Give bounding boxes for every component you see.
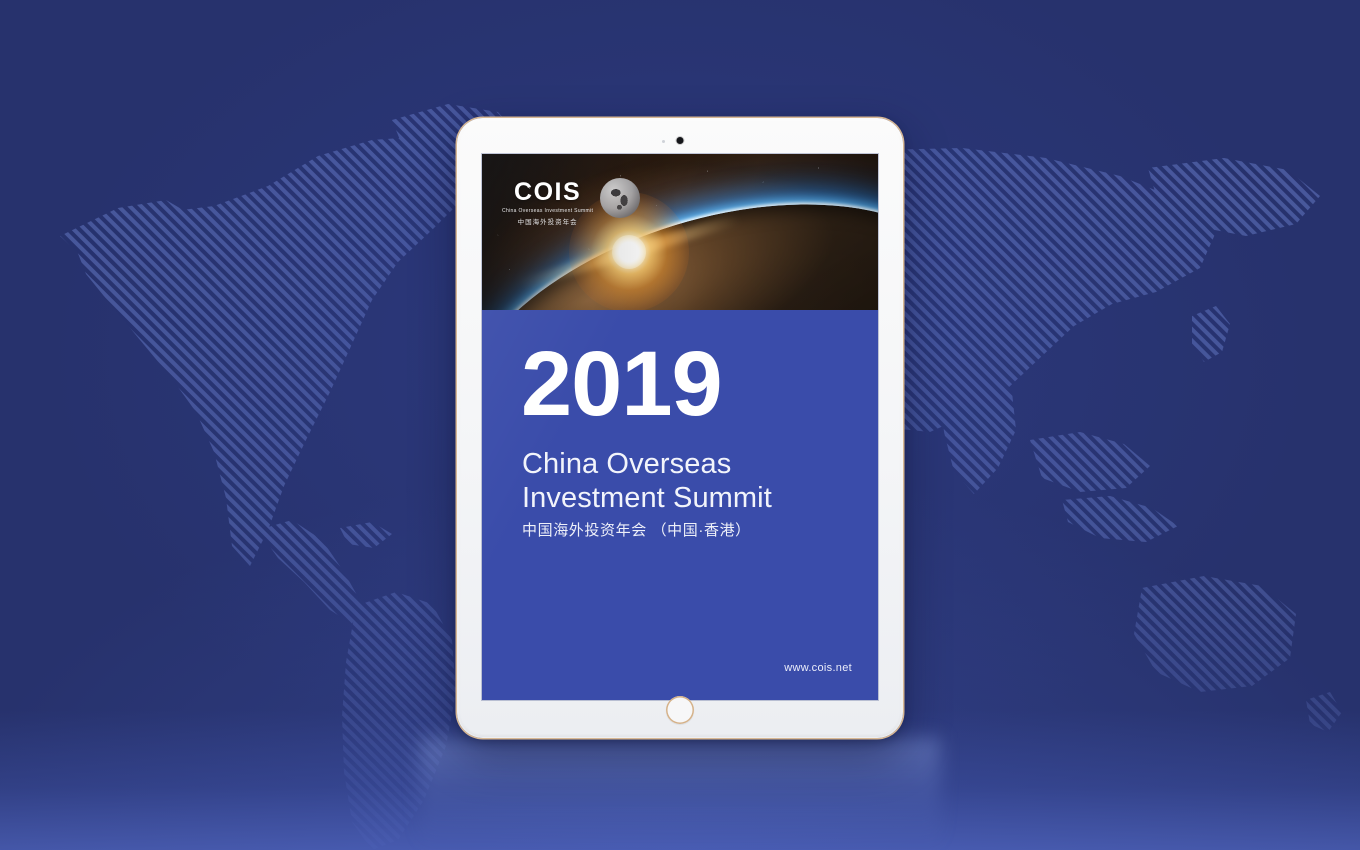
- home-button[interactable]: [666, 696, 694, 724]
- cois-logo-text: COIS China Overseas Investment Summit 中国…: [502, 180, 593, 226]
- cois-logo: COIS China Overseas Investment Summit 中国…: [502, 180, 640, 226]
- cois-logo-chinese: 中国海外投资年会: [518, 216, 578, 226]
- event-title-line-2: Investment Summit: [522, 482, 772, 516]
- content-panel: 2019 China Overseas Investment Summit 中国…: [482, 310, 878, 700]
- event-year: 2019: [521, 342, 722, 427]
- tablet-device: COIS China Overseas Investment Summit 中国…: [457, 118, 903, 738]
- event-title: China Overseas Investment Summit: [522, 448, 772, 515]
- globe-icon: [600, 178, 640, 218]
- tablet-screen[interactable]: COIS China Overseas Investment Summit 中国…: [482, 154, 878, 700]
- poster-stage: COIS China Overseas Investment Summit 中国…: [0, 0, 1360, 850]
- event-subtitle-chinese: 中国海外投资年会 （中国·香港）: [522, 519, 751, 540]
- cois-wordmark: COIS: [514, 180, 581, 205]
- cois-logo-english: China Overseas Investment Summit: [502, 208, 593, 214]
- hero-image: COIS China Overseas Investment Summit 中国…: [482, 154, 878, 310]
- event-title-line-1: China Overseas: [522, 448, 772, 482]
- website-url[interactable]: www.cois.net: [784, 662, 852, 674]
- front-camera-icon: [677, 137, 684, 144]
- ambient-sensor-icon: [662, 140, 665, 143]
